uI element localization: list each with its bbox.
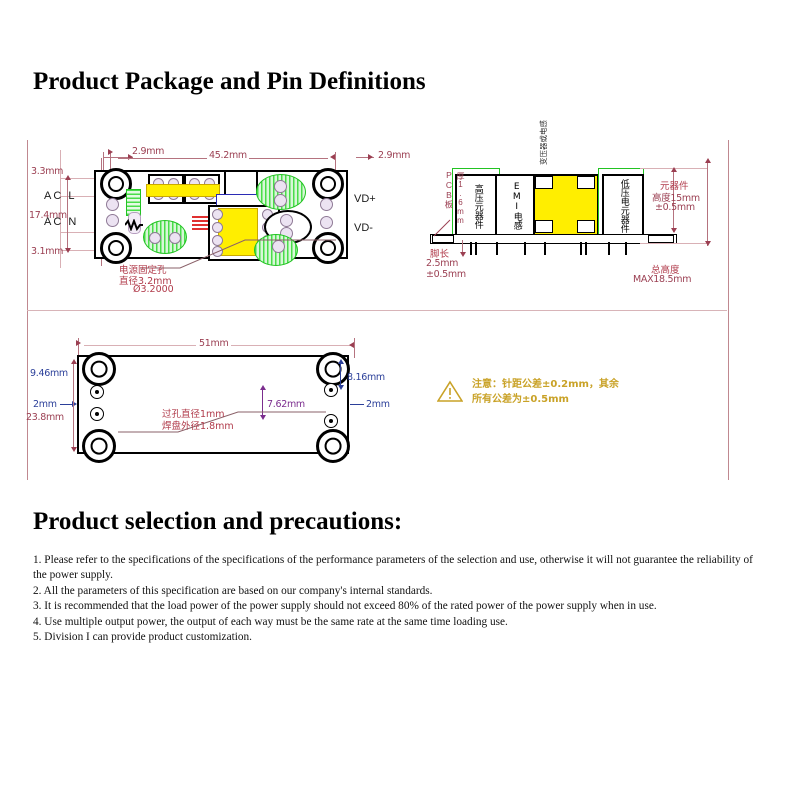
block-emi-inductor: EMI电感 xyxy=(495,174,537,238)
block-lv-components: 低压电元器件 xyxy=(602,174,644,238)
block-hv-label: 高压元器件 xyxy=(472,184,481,229)
pin-pad xyxy=(106,214,119,227)
dim-line xyxy=(103,152,104,170)
pin-pad xyxy=(320,198,333,211)
document-page: Product Package and Pin Definitions 2.9m… xyxy=(0,0,800,800)
component-diode-array xyxy=(192,216,208,218)
pcb-bottom-view xyxy=(77,355,349,454)
pin xyxy=(496,242,498,255)
precaution-item: 5. Division I can provide product custom… xyxy=(33,630,763,645)
pin xyxy=(608,242,610,255)
dim-line xyxy=(60,232,96,233)
pin xyxy=(524,242,526,255)
block-transformer-label-wrap: 变压器或电感 xyxy=(538,160,583,178)
precaution-item: 3. It is recommended that the load power… xyxy=(33,599,763,614)
component-diode-array xyxy=(192,224,208,226)
component-block xyxy=(224,170,258,196)
precaution-item: 2. All the parameters of this specificat… xyxy=(33,584,763,599)
block-emi-label: EMI电感 xyxy=(511,182,520,230)
mounting-hole xyxy=(82,352,116,386)
pin-length-line2: 2.5mm xyxy=(426,258,458,269)
dim-left-hole-y: 9.46mm xyxy=(30,368,68,379)
dim-arrow xyxy=(260,385,266,390)
precautions-list: 1. Please refer to the specifications of… xyxy=(33,553,763,646)
via-pad xyxy=(324,383,338,397)
dim-arrow xyxy=(65,248,71,253)
dim-arrow xyxy=(108,149,113,155)
pcb-thickness-wrap: 厚1.6mm xyxy=(455,172,466,230)
via-callout-line2: 焊盘外径1.8mm xyxy=(162,418,234,432)
side-view-diagram: 高压元器件 EMI电感 变压器或电感 低压电元器件 xyxy=(430,158,700,268)
dim-bottom-edge: 3.1mm xyxy=(31,246,63,257)
pin-pad xyxy=(106,198,119,211)
tolerance-warning: 注意：针距公差±0.2mm，其余 所有公差为±0.5mm xyxy=(437,378,697,408)
pin xyxy=(625,242,627,255)
via-pad xyxy=(90,407,104,421)
pin-pad xyxy=(320,216,333,229)
dim-total-height: 23.8mm xyxy=(26,412,64,423)
precaution-item: 1. Please refer to the specifications of… xyxy=(33,553,763,583)
mounting-hole xyxy=(82,429,116,463)
dim-arrow xyxy=(368,154,373,160)
dim-line xyxy=(335,152,336,170)
component-diode-array xyxy=(192,228,208,230)
callout-leader xyxy=(140,236,340,276)
pcb-board-label: PCB板 xyxy=(443,170,455,209)
pin xyxy=(585,242,587,255)
precaution-item: 4. Use multiple output power, the output… xyxy=(33,615,763,630)
dim-line xyxy=(73,362,74,450)
dim-top-edge: 3.3mm xyxy=(31,166,63,177)
dim-arrow xyxy=(338,359,344,364)
warning-triangle-icon xyxy=(437,380,463,408)
pcb-thickness-label: 厚1.6mm xyxy=(455,172,466,225)
transformer-pad xyxy=(535,220,553,233)
pin xyxy=(475,242,477,255)
mounting-hole xyxy=(312,168,344,200)
via-pad xyxy=(90,385,104,399)
mounting-hole xyxy=(316,352,350,386)
dim-arrow xyxy=(460,252,466,257)
dim-arrow xyxy=(338,385,344,390)
warning-text: 注意：针距公差±0.2mm，其余 所有公差为±0.5mm xyxy=(472,378,619,407)
dim-line xyxy=(350,404,364,405)
warning-line2: 所有公差为±0.5mm xyxy=(472,394,569,405)
pin-length-line3: ±0.5mm xyxy=(426,269,466,280)
pin-label-ac-neutral: AC N xyxy=(44,216,78,228)
pin-label-vd-negative: VD- xyxy=(354,222,373,234)
page-title-selection: Product selection and precautions: xyxy=(33,508,402,536)
dim-line xyxy=(67,178,68,250)
pin-label-vd-positive: VD+ xyxy=(354,193,376,205)
dim-line xyxy=(354,338,355,358)
dim-line xyxy=(640,243,708,244)
pcb-label-wrap: PCB板 xyxy=(443,170,455,214)
dim-line xyxy=(707,160,708,246)
component-resistor xyxy=(125,218,143,236)
pin-label-ac-live: AC L xyxy=(44,190,76,202)
dim-board-width: 45.2mm xyxy=(207,150,249,161)
dim-right-hole-y: 8.16mm xyxy=(347,372,385,383)
dim-outer-length: 51mm xyxy=(196,338,231,349)
mounting-hole xyxy=(100,232,132,264)
pcb-edge-pad xyxy=(648,235,674,243)
total-height-line2: MAX18.5mm xyxy=(633,274,691,285)
transformer-pad xyxy=(577,220,595,233)
dim-arrow xyxy=(330,154,335,160)
dim-right-pin-gap: 2mm xyxy=(366,399,390,410)
dim-arrow xyxy=(76,340,81,346)
dim-right-offset: 2.9mm xyxy=(378,150,410,161)
pin xyxy=(470,242,472,255)
component-yellow-bar xyxy=(146,184,220,197)
pin xyxy=(544,242,546,255)
callout-mounting-hole-line3: Ø3.2000 xyxy=(133,284,174,295)
dim-arrow xyxy=(705,158,711,163)
drawing-frame-divider xyxy=(27,310,727,311)
component-diode-array xyxy=(192,220,208,222)
dim-arrow xyxy=(65,175,71,180)
dim-left-pin-gap: 2mm xyxy=(33,399,57,410)
dim-left-offset: 2.9mm xyxy=(132,146,164,157)
warning-line1: 注意：针距公差±0.2mm，其余 xyxy=(472,379,619,390)
block-lv-label: 低压电元器件 xyxy=(618,179,627,233)
pin xyxy=(580,242,582,255)
dim-arrow xyxy=(671,228,677,233)
page-title-package: Product Package and Pin Definitions xyxy=(33,68,426,96)
dim-arrow xyxy=(705,241,711,246)
dim-arrow xyxy=(671,167,677,172)
comp-height-line3: ±0.5mm xyxy=(655,202,695,213)
block-transformer-label: 变压器或电感 xyxy=(538,120,549,165)
